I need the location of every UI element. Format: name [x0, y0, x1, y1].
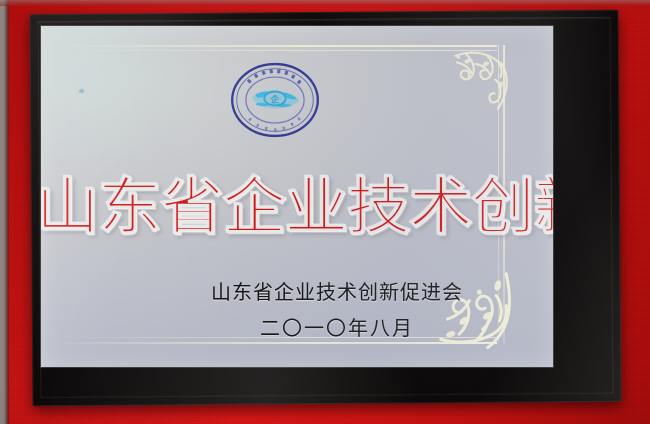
plaque-photo: 企 山东省企业技术创新奖 山东省企业技术创新促进会 二〇一〇年八月 — [0, 0, 650, 424]
plaque-title: 山东省企业技术创新奖 — [41, 176, 553, 238]
signoff-block: 山东省企业技术创新促进会 二〇一〇年八月 — [187, 279, 487, 341]
issue-date: 二〇一〇年八月 — [187, 312, 487, 341]
border-line-top-inner — [65, 50, 497, 51]
border-line-bottom — [65, 342, 497, 344]
surface-speck — [79, 89, 84, 93]
issuer-name: 山东省企业技术创新促进会 — [187, 279, 487, 306]
border-line-top — [65, 45, 497, 47]
floor-edge — [0, 0, 9, 424]
seal-center-mark: 企 — [270, 94, 280, 104]
organization-seal-icon: 企 — [229, 61, 321, 139]
plaque-face: 企 山东省企业技术创新奖 山东省企业技术创新促进会 二〇一〇年八月 — [41, 26, 553, 367]
filigree-ornament-icon — [453, 44, 519, 110]
floor-edge-top — [0, 0, 650, 6]
